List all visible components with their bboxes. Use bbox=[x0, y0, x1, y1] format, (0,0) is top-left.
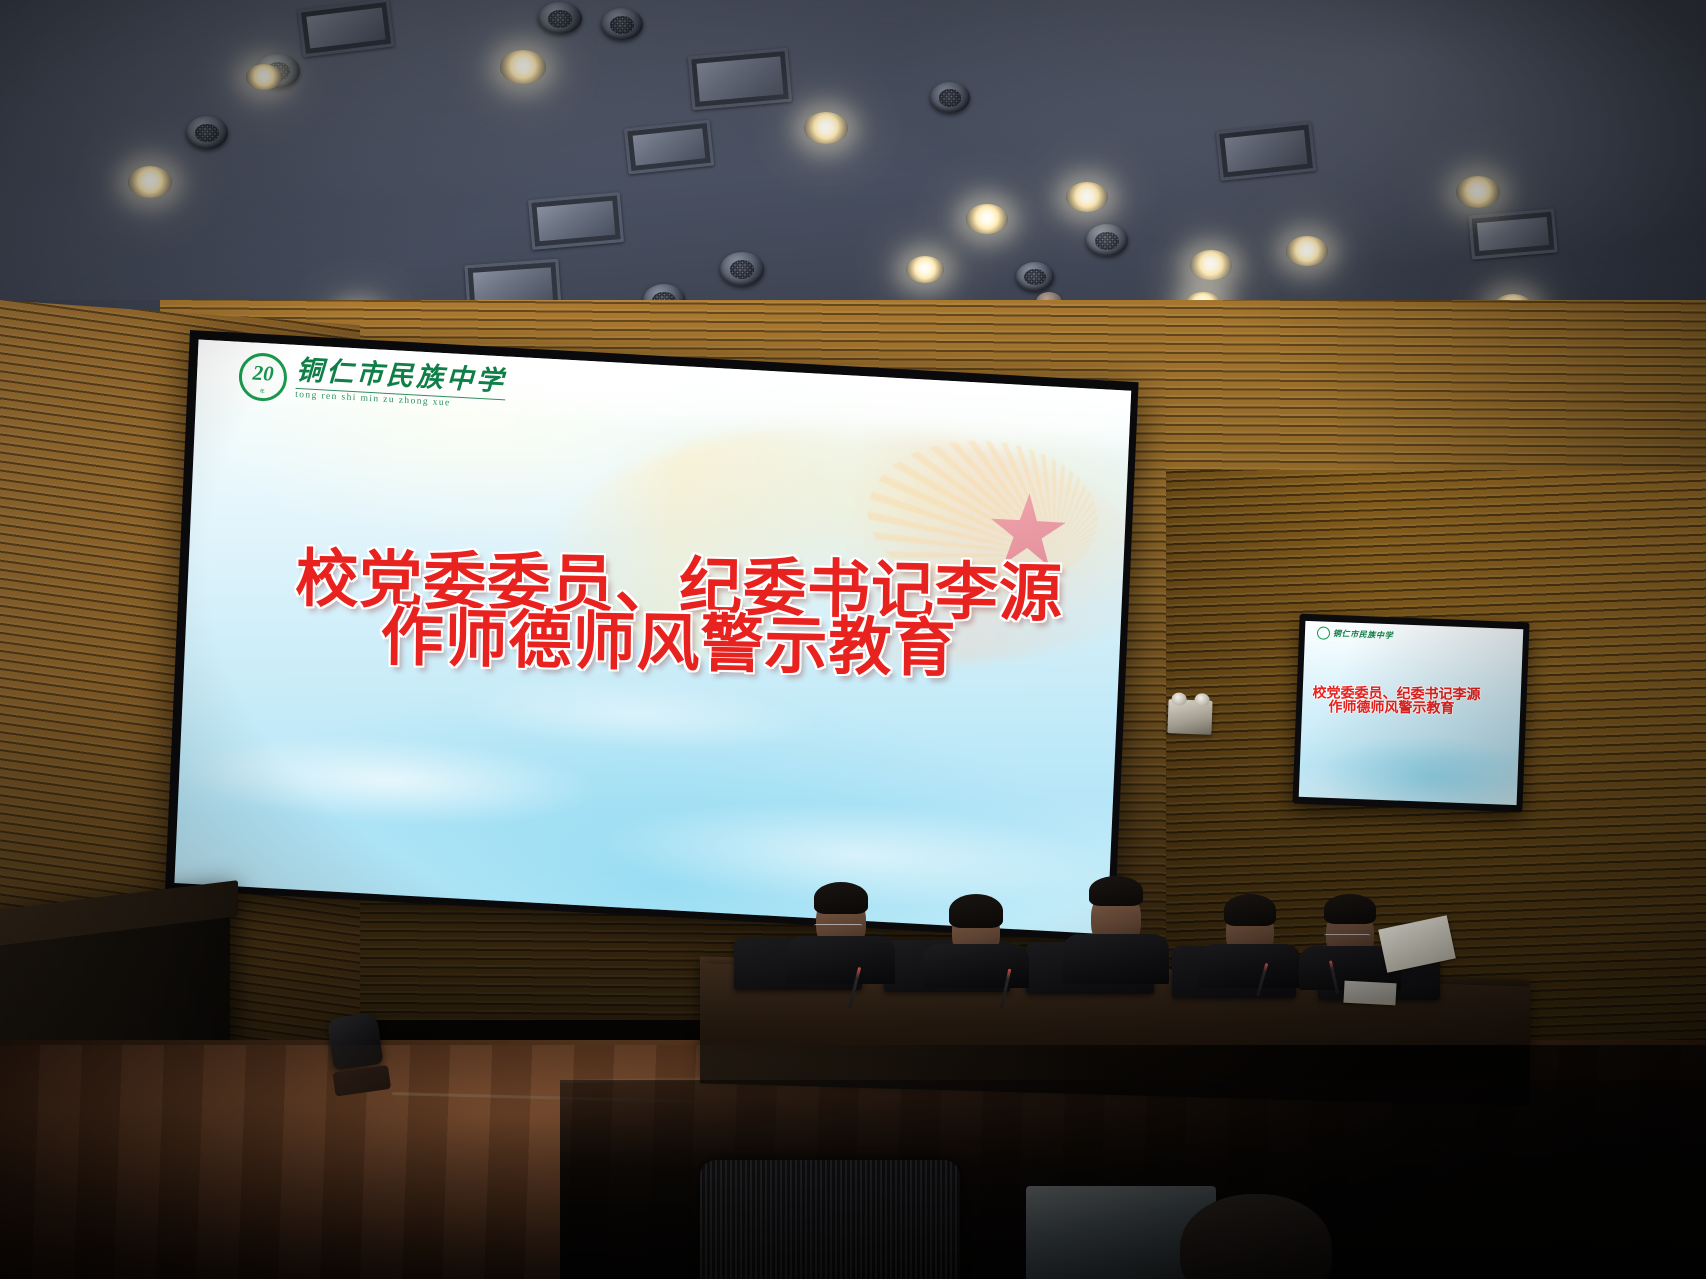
side-logo-text: 铜仁市民族中学 bbox=[1333, 628, 1394, 641]
side-monitor: 铜仁市民族中学 校党委委员、纪委书记李源 作师德师风警示教育 bbox=[1292, 614, 1529, 813]
air-vent-icon bbox=[1216, 121, 1317, 181]
air-vent-icon bbox=[297, 0, 394, 57]
downlight-icon bbox=[804, 112, 848, 144]
person-torso bbox=[1063, 934, 1169, 984]
air-vent-icon bbox=[1468, 208, 1558, 259]
school-logo-text: 铜仁市民族中学 tong ren shi min zu zhong xue bbox=[295, 357, 507, 412]
ceiling-speaker-icon bbox=[720, 252, 764, 286]
person-hair bbox=[1089, 876, 1143, 906]
audience-chair bbox=[700, 1160, 960, 1279]
side-monitor-screen: 铜仁市民族中学 校党委委员、纪委书记李源 作师德师风警示教育 bbox=[1299, 621, 1524, 805]
panel-member bbox=[786, 884, 896, 984]
person-torso bbox=[787, 936, 895, 984]
side-title-line-2: 作师德师风警示教育 bbox=[1328, 700, 1523, 717]
downlight-icon bbox=[246, 64, 282, 90]
ceiling-speaker-icon bbox=[930, 82, 970, 113]
panel-member bbox=[1062, 878, 1170, 984]
person-hair bbox=[949, 894, 1003, 928]
person-hair bbox=[814, 882, 868, 914]
panel-member bbox=[1198, 892, 1302, 988]
school-logo-mark-icon: 20 年 bbox=[238, 352, 288, 403]
side-monitor-title-block: 校党委委员、纪委书记李源 作师德师风警示教育 bbox=[1312, 686, 1523, 717]
ceiling-speaker-icon bbox=[1016, 262, 1054, 291]
downlight-icon bbox=[128, 166, 172, 198]
downlight-icon bbox=[1066, 182, 1108, 212]
ceiling-speaker-icon bbox=[186, 116, 228, 149]
person-hair bbox=[1224, 894, 1276, 926]
ceiling-speaker-icon bbox=[601, 8, 643, 40]
downlight-icon bbox=[906, 256, 944, 283]
logo-mark-number: 20 bbox=[242, 362, 285, 385]
person-torso bbox=[1199, 944, 1301, 988]
downlight-icon bbox=[966, 204, 1008, 234]
side-logo-mark-icon bbox=[1317, 626, 1330, 639]
glasses-icon bbox=[1324, 934, 1370, 941]
downlight-icon bbox=[1286, 236, 1328, 266]
glasses-icon bbox=[814, 924, 862, 931]
downlight-icon bbox=[1190, 250, 1232, 280]
side-monitor-logo: 铜仁市民族中学 bbox=[1317, 626, 1394, 642]
downlight-icon bbox=[500, 50, 546, 84]
presentation-slide: 20 年 铜仁市民族中学 tong ren shi min zu zhong x… bbox=[174, 339, 1131, 934]
person-hair bbox=[1324, 894, 1376, 924]
ceiling-speaker-icon bbox=[538, 2, 582, 34]
auditorium-photo: 20 年 铜仁市民族中学 tong ren shi min zu zhong x… bbox=[0, 0, 1706, 1279]
air-vent-icon bbox=[688, 48, 792, 111]
air-vent-icon bbox=[528, 192, 624, 250]
logo-mark-sub: 年 bbox=[241, 387, 283, 396]
main-led-screen: 20 年 铜仁市民族中学 tong ren shi min zu zhong x… bbox=[165, 330, 1139, 942]
slide-title-block: 校党委委员、纪委书记李源 作师德师风警示教育 bbox=[294, 547, 1095, 683]
document-paper bbox=[1343, 981, 1396, 1006]
air-vent-icon bbox=[624, 120, 714, 175]
ceiling-speaker-icon bbox=[1086, 224, 1128, 256]
person-torso bbox=[923, 944, 1029, 988]
panel-member bbox=[922, 892, 1030, 988]
emergency-light-icon bbox=[1167, 699, 1212, 735]
downlight-icon bbox=[1456, 176, 1500, 208]
